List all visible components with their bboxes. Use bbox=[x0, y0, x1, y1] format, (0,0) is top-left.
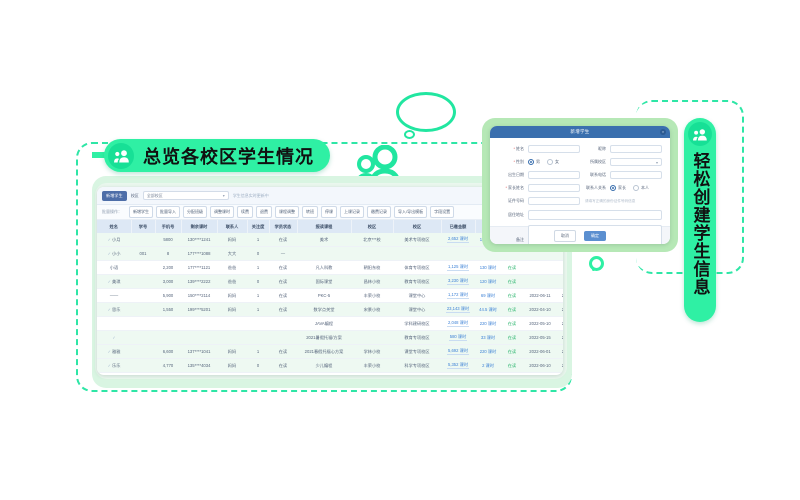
field-contact: 联系电话 bbox=[580, 171, 662, 179]
cell-no bbox=[131, 303, 155, 317]
campus-filter-select[interactable]: 全部校区 ▾ bbox=[143, 191, 229, 200]
cell-date: 2022-06-01 bbox=[523, 345, 557, 359]
campus-label: 所属校区 bbox=[580, 159, 606, 165]
cell-status: 在读 bbox=[501, 331, 523, 345]
cell-date: 2022-12-08 bbox=[523, 373, 557, 376]
cell-campus bbox=[351, 317, 393, 331]
contact-input[interactable] bbox=[610, 171, 662, 179]
cell-parent bbox=[217, 317, 247, 331]
cell-campus: 学林小校 bbox=[351, 345, 393, 359]
cell-paid: 3,230 课时 bbox=[441, 275, 475, 289]
cell-campus2: 科学专项校区 bbox=[393, 359, 441, 373]
cell-campus bbox=[351, 247, 393, 261]
status-badge: 在读 bbox=[508, 293, 516, 298]
cell-state bbox=[269, 331, 297, 345]
cell-hours: 135****4034 bbox=[181, 359, 217, 373]
idcard-label: 证件号码 bbox=[498, 198, 524, 204]
col-name[interactable]: 姓名 bbox=[97, 220, 131, 233]
birthday-label: 出生日期 bbox=[498, 172, 524, 178]
idcard-tip: 请填写正确的身份证件号码信息 bbox=[585, 199, 635, 204]
col-course[interactable]: 报读课程 bbox=[297, 220, 351, 233]
cell-paid: 5,692 课时 bbox=[441, 345, 475, 359]
cell-hours: 199****5201 bbox=[181, 303, 217, 317]
status-badge: 在读 bbox=[508, 349, 516, 354]
toolbar-button[interactable]: 课程调整 bbox=[275, 206, 299, 218]
paid-amount: 580 课时 bbox=[449, 334, 468, 341]
required-mark: * bbox=[505, 185, 507, 190]
gender-label: *性别 bbox=[498, 159, 524, 165]
table-row[interactable]: ✓ 美琪3,000139****2222爸爸0在读国际课堂昌林小校教育专项校区3… bbox=[97, 275, 563, 289]
cell-date: 2022-06-11 bbox=[523, 289, 557, 303]
cell-state: 在读 bbox=[269, 303, 297, 317]
row-checkbox[interactable]: ✓ bbox=[112, 335, 115, 340]
confirm-button[interactable]: 确定 bbox=[584, 231, 606, 241]
field-parent: *家长姓名 bbox=[498, 184, 580, 192]
cell-phone: 5,900 bbox=[155, 289, 181, 303]
col-no[interactable]: 学号 bbox=[131, 220, 155, 233]
form-row-idcard: 证件号码 请填写正确的身份证件号码信息 bbox=[498, 197, 662, 205]
paid-amount: 1,125 课时 bbox=[447, 264, 469, 271]
cell-campus: 宋景小校 bbox=[351, 303, 393, 317]
cell-disc: 2折 bbox=[557, 331, 563, 345]
table-row[interactable]: ✓ 乐乐4,770135****4034妈妈0在读少儿编程丰荣小校科学专项校区5… bbox=[97, 359, 563, 373]
toolbar-button[interactable]: 调整课时 bbox=[210, 206, 234, 218]
cell-status: 在读 bbox=[501, 261, 523, 275]
cell-parent: 妈妈 bbox=[217, 233, 247, 247]
row-checkbox[interactable]: ✓ bbox=[108, 349, 112, 354]
form-row-parent: *家长姓名 联系人关系 家长 本人 bbox=[498, 184, 662, 192]
cell-status: 在读 bbox=[501, 303, 523, 317]
field-campus: 所属校区 ▾ bbox=[580, 158, 662, 166]
cell-disc: 2折 bbox=[557, 345, 563, 359]
status-badge: 在读 bbox=[508, 265, 516, 270]
cell-focus: 1 bbox=[247, 261, 269, 275]
thought-bubble-dot-icon bbox=[404, 130, 415, 139]
cell-focus: 1 bbox=[247, 373, 269, 376]
cell-hours: 137****1041 bbox=[181, 345, 217, 359]
cell-due: 130 课时 bbox=[475, 261, 501, 275]
cell-campus: 朝阳东校 bbox=[351, 261, 393, 275]
cell-disc: 2折 bbox=[557, 359, 563, 373]
cell-paid: 580 课时 bbox=[441, 331, 475, 345]
cell-state: 在读 bbox=[269, 261, 297, 275]
chevron-down-icon: ▾ bbox=[656, 160, 658, 165]
cell-no bbox=[131, 345, 155, 359]
cell-phone: 3,000 bbox=[155, 275, 181, 289]
relation-radio-group: 家长 本人 bbox=[610, 185, 662, 191]
paid-amount: 2,048 课时 bbox=[447, 320, 469, 327]
row-checkbox[interactable]: ✓ bbox=[108, 307, 112, 312]
field-relation: 联系人关系 家长 本人 bbox=[580, 185, 662, 191]
cell-campus2: 美术专项校区 bbox=[393, 233, 441, 247]
cell-campus: 朝阳小校 bbox=[351, 373, 393, 376]
status-badge: 在读 bbox=[508, 321, 516, 326]
cell-course bbox=[297, 247, 351, 261]
cell-disc bbox=[557, 275, 563, 289]
cell-campus2: 体育专项校区 bbox=[393, 261, 441, 275]
toolbar-hint: 批量操作： bbox=[102, 209, 122, 215]
field-birthday: 出生日期 bbox=[498, 171, 580, 179]
cell-date bbox=[523, 275, 557, 289]
gender-option-label: 女 bbox=[555, 159, 559, 165]
toolbar-button[interactable]: 上课记录 bbox=[340, 206, 364, 218]
cell-no bbox=[131, 275, 155, 289]
cell-state: 在读 bbox=[269, 275, 297, 289]
cell-status: 在读 bbox=[501, 317, 523, 331]
cell-no: 001 bbox=[131, 247, 155, 261]
parent-label-text: 家长姓名 bbox=[508, 185, 524, 190]
cell-hours: 177****1121 bbox=[181, 261, 217, 275]
cell-state: 在读 bbox=[269, 233, 297, 247]
toolbar-button[interactable]: 新增学生 bbox=[129, 206, 153, 218]
cell-course: 凡人科教 bbox=[297, 261, 351, 275]
cell-due: 120 课时 bbox=[475, 275, 501, 289]
close-icon[interactable]: × bbox=[660, 129, 666, 135]
cell-date bbox=[523, 261, 557, 275]
campus-select[interactable]: ▾ bbox=[610, 158, 662, 166]
nickname-input[interactable] bbox=[610, 145, 662, 153]
radio-dot-icon bbox=[547, 159, 553, 165]
cell-campus2: 学科建研校区 bbox=[393, 317, 441, 331]
cancel-button[interactable]: 取消 bbox=[554, 230, 576, 242]
toolbar-button[interactable]: 停课 bbox=[321, 206, 337, 218]
cell-status: 在读 bbox=[501, 345, 523, 359]
radio-dot-icon bbox=[610, 185, 616, 191]
cell-parent: 大大 bbox=[217, 247, 247, 261]
cell-focus: 0 bbox=[247, 275, 269, 289]
col-campus[interactable]: 校区 bbox=[351, 220, 393, 233]
cell-course: 2021春假托福心方案 bbox=[297, 345, 351, 359]
cell-name: —— bbox=[97, 289, 131, 303]
address-label: 居住地址 bbox=[498, 212, 524, 218]
location-pin-icon bbox=[589, 256, 604, 271]
cell-disc bbox=[557, 261, 563, 275]
cell-hours: 130****1241 bbox=[181, 233, 217, 247]
col-parent[interactable]: 联系人 bbox=[217, 220, 247, 233]
cell-course: 国际课堂 bbox=[297, 275, 351, 289]
cell-due: 44.5 课时 bbox=[475, 303, 501, 317]
gender-radio-male[interactable]: 男 bbox=[528, 159, 540, 165]
remark-label: 备注 bbox=[498, 237, 524, 243]
address-input[interactable] bbox=[528, 210, 662, 220]
cell-state: 在读 bbox=[269, 359, 297, 373]
cell-hours: 177****1088 bbox=[181, 247, 217, 261]
cell-state: — bbox=[269, 247, 297, 261]
form-row-address: 居住地址 bbox=[498, 210, 662, 220]
toolbar-button[interactable]: 转班 bbox=[302, 206, 318, 218]
cell-due: 2 课时 bbox=[475, 359, 501, 373]
name-input[interactable] bbox=[528, 145, 580, 153]
cell-no bbox=[131, 233, 155, 247]
cell-no bbox=[131, 317, 155, 331]
cell-parent: 爸爸 bbox=[217, 261, 247, 275]
cell-campus2: 课堂中心 bbox=[393, 303, 441, 317]
col-hours[interactable]: 剩余课时 bbox=[181, 220, 217, 233]
field-idcard: 证件号码 bbox=[498, 197, 580, 205]
form-row-gender: *性别 男 女 所属校区 ▾ bbox=[498, 158, 662, 166]
cell-parent: 爸爸 bbox=[217, 275, 247, 289]
cell-course: 少儿编程 bbox=[297, 359, 351, 373]
cell-campus2: 教育专项校区 bbox=[393, 275, 441, 289]
table-row[interactable]: ✓ 2021暑假托福/方案教育专项校区580 课时33 课时在读2022-05-… bbox=[97, 331, 563, 345]
cell-course: 2021暑假托福/方案 bbox=[297, 331, 351, 345]
required-mark: * bbox=[513, 159, 515, 164]
cell-phone: 4,770 bbox=[155, 359, 181, 373]
row-checkbox[interactable]: ✓ bbox=[108, 363, 112, 368]
toolbar-button[interactable]: 续费 bbox=[237, 206, 253, 218]
cell-name: ✓ 雅雅 bbox=[97, 345, 131, 359]
campus-filter-label: 校区 bbox=[131, 193, 139, 199]
row-checkbox[interactable]: ✓ bbox=[108, 279, 112, 284]
thought-bubble-icon bbox=[396, 92, 456, 132]
chevron-down-icon: ▾ bbox=[223, 193, 225, 198]
cell-status: 在读 bbox=[501, 275, 523, 289]
left-callout-pill: 总览各校区学生情况 bbox=[104, 139, 330, 172]
due-amount: 220 课时 bbox=[480, 321, 497, 326]
cell-phone: 2,200 bbox=[155, 261, 181, 275]
cell-due: 220 课时 bbox=[475, 317, 501, 331]
paid-amount: 5,692 课时 bbox=[447, 348, 469, 355]
cell-hours: 139****2222 bbox=[181, 275, 217, 289]
parent-input[interactable] bbox=[528, 184, 580, 192]
status-badge: 在读 bbox=[508, 363, 516, 368]
cell-hours bbox=[181, 317, 217, 331]
row-checkbox[interactable]: ✓ bbox=[108, 237, 112, 242]
modal-title: 新增学生 bbox=[570, 129, 589, 135]
cell-campus2: 教育专项校区 bbox=[393, 331, 441, 345]
relation-option-label: 家长 bbox=[618, 185, 626, 191]
cell-focus: 1 bbox=[247, 233, 269, 247]
birthday-input[interactable] bbox=[528, 171, 580, 179]
paid-amount: 23,143 课时 bbox=[446, 306, 470, 313]
parent-label: *家长姓名 bbox=[498, 185, 524, 191]
cell-due: 220 课时 bbox=[475, 345, 501, 359]
cell-phone bbox=[155, 317, 181, 331]
cell-due: 33 课时 bbox=[475, 331, 501, 345]
status-badge: 在读 bbox=[508, 279, 516, 284]
cell-hours: 150****2114 bbox=[181, 289, 217, 303]
cell-parent bbox=[217, 331, 247, 345]
col-state[interactable]: 学员状态 bbox=[269, 220, 297, 233]
relation-radio-self[interactable]: 本人 bbox=[633, 185, 649, 191]
cell-date: 2022-04-10 bbox=[523, 303, 557, 317]
cell-campus: 丰荣小校 bbox=[351, 359, 393, 373]
cell-date: 2022-05-15 bbox=[523, 331, 557, 345]
due-amount: 2 课时 bbox=[482, 363, 494, 368]
cell-course: 美术 bbox=[297, 233, 351, 247]
cell-paid: 2,048 课时 bbox=[441, 317, 475, 331]
due-amount: 44.5 课时 bbox=[479, 307, 497, 312]
cell-paid: 23,143 课时 bbox=[441, 303, 475, 317]
people-group-icon bbox=[108, 143, 134, 169]
cell-status: 在读 bbox=[501, 373, 523, 376]
cell-state bbox=[269, 317, 297, 331]
cell-campus bbox=[351, 331, 393, 345]
radio-dot-icon bbox=[528, 159, 534, 165]
cell-status: 在读 bbox=[501, 359, 523, 373]
row-checkbox[interactable]: ✓ bbox=[108, 251, 112, 256]
campus-filter-value: 全部校区 bbox=[147, 193, 163, 199]
cell-course: JAVA编程 bbox=[297, 317, 351, 331]
gender-radio-group: 男 女 bbox=[528, 159, 580, 165]
new-student-modal: 新增学生 × *姓名 昵称 *性别 男 女 bbox=[490, 126, 670, 244]
people-group-icon bbox=[688, 122, 712, 146]
modal-body: *姓名 昵称 *性别 男 女 所属校区 bbox=[490, 138, 670, 226]
due-amount: 69 课时 bbox=[481, 293, 495, 298]
due-amount: 120 课时 bbox=[480, 279, 497, 284]
table-row[interactable]: 琪琪5,200130****2313妈妈1在读SCRATCH图形化编程朝阳小校课… bbox=[97, 373, 563, 376]
cell-name: ✓ bbox=[97, 331, 131, 345]
cell-paid bbox=[441, 247, 475, 261]
due-amount: 33 课时 bbox=[481, 335, 495, 340]
cell-phone: 5800 bbox=[155, 233, 181, 247]
cell-campus: 北京***校 bbox=[351, 233, 393, 247]
relation-radio-parent[interactable]: 家长 bbox=[610, 185, 626, 191]
paid-amount: 3,230 课时 bbox=[447, 278, 469, 285]
cell-no bbox=[131, 289, 155, 303]
nickname-label: 昵称 bbox=[580, 146, 606, 152]
cell-focus: 1 bbox=[247, 303, 269, 317]
cell-name: 小语 bbox=[97, 261, 131, 275]
cell-date: 2022-06-10 bbox=[523, 359, 557, 373]
cell-campus2: 课堂中心 bbox=[393, 289, 441, 303]
field-nickname: 昵称 bbox=[580, 145, 662, 153]
table-row[interactable]: 小语2,200177****1121爸爸1在读凡人科教朝阳东校体育专项校区1,1… bbox=[97, 261, 563, 275]
toolbar-button[interactable]: 字段设置 bbox=[430, 206, 454, 218]
form-row-birthday: 出生日期 联系电话 bbox=[498, 171, 662, 179]
cell-focus: 0 bbox=[247, 247, 269, 261]
relation-label: 联系人关系 bbox=[580, 185, 606, 191]
cell-campus2: 课堂专项校区 bbox=[393, 345, 441, 359]
cell-campus2: 课程数学校区 bbox=[393, 373, 441, 376]
cell-parent: 妈妈 bbox=[217, 289, 247, 303]
relation-option-label: 本人 bbox=[641, 185, 649, 191]
cell-name: ✓ 思乐 bbox=[97, 303, 131, 317]
paid-amount: 5,352 课时 bbox=[447, 362, 469, 369]
required-mark: * bbox=[513, 146, 515, 151]
toolbar-button[interactable]: 批量导入 bbox=[156, 206, 180, 218]
status-badge: 在读 bbox=[508, 307, 516, 312]
cell-paid: 2,652 课时 bbox=[441, 233, 475, 247]
cell-phone bbox=[155, 331, 181, 345]
right-callout-pill: 轻松创建学生信息 bbox=[684, 118, 716, 322]
idcard-input[interactable] bbox=[528, 197, 580, 205]
cell-phone: 1,550 bbox=[155, 303, 181, 317]
right-callout-label: 轻松创建学生信息 bbox=[688, 152, 713, 296]
cell-no bbox=[131, 359, 155, 373]
col-phone[interactable]: 手机号 bbox=[155, 220, 181, 233]
cell-paid: 5,352 课时 bbox=[441, 359, 475, 373]
cell-name: ✓ 美琪 bbox=[97, 275, 131, 289]
modal-title-bar: 新增学生 × bbox=[490, 126, 670, 138]
col-focus[interactable]: 关注度 bbox=[247, 220, 269, 233]
cell-focus: 1 bbox=[247, 345, 269, 359]
status-badge: 在读 bbox=[508, 335, 516, 340]
toolbar-button[interactable]: 缴费记录 bbox=[367, 206, 391, 218]
cell-hours bbox=[181, 331, 217, 345]
cell-state: 在读 bbox=[269, 289, 297, 303]
cell-name: ✓ 小月 bbox=[97, 233, 131, 247]
cell-due: 69 课时 bbox=[475, 289, 501, 303]
cell-name: 琪琪 bbox=[97, 373, 131, 376]
cell-parent: 妈妈 bbox=[217, 303, 247, 317]
col-paid[interactable]: 已缴金额 bbox=[441, 220, 475, 233]
table-body: ✓ 小月5800130****1241妈妈1在读美术北京***校美术专项校区2,… bbox=[97, 233, 563, 375]
cell-course: SCRATCH图形化编程 bbox=[297, 373, 351, 376]
cell-due: 54 课时 bbox=[475, 373, 501, 376]
gender-radio-female[interactable]: 女 bbox=[547, 159, 559, 165]
cell-date: 2022-05-10 bbox=[523, 317, 557, 331]
screenshot-root: 新增学生 校区 全部校区 ▾ 学生信息实时更新中 批量操作： 新增学生 批量导入… bbox=[0, 0, 800, 500]
cell-hours: 130****2313 bbox=[181, 373, 217, 376]
cell-paid: 4,710 课时 bbox=[441, 373, 475, 376]
cell-course: PKC-5 bbox=[297, 289, 351, 303]
cell-phone: 6,600 bbox=[155, 345, 181, 359]
cell-status: 在读 bbox=[501, 289, 523, 303]
cell-disc: 2折 bbox=[557, 317, 563, 331]
table-row[interactable]: ——5,900150****2114妈妈1在读PKC-5丰荣小校课堂中心1,17… bbox=[97, 289, 563, 303]
contact-label: 联系电话 bbox=[580, 172, 606, 178]
table-row[interactable]: ✓ 思乐1,550199****5201妈妈1在读数学点关堂宋景小校课堂中心23… bbox=[97, 303, 563, 317]
paid-amount: 1,172 课时 bbox=[447, 292, 469, 299]
col-campus2[interactable]: 校区 bbox=[393, 220, 441, 233]
form-row-name: *姓名 昵称 bbox=[498, 145, 662, 153]
field-name: *姓名 bbox=[498, 145, 580, 153]
cell-parent: 妈妈 bbox=[217, 345, 247, 359]
cell-phone: 5,200 bbox=[155, 373, 181, 376]
cell-state: 在读 bbox=[269, 345, 297, 359]
cell-course: 数学点关堂 bbox=[297, 303, 351, 317]
cell-state: 在读 bbox=[269, 373, 297, 376]
cell-phone: 8 bbox=[155, 247, 181, 261]
left-callout-label: 总览各校区学生情况 bbox=[143, 143, 314, 169]
gender-option-label: 男 bbox=[536, 159, 540, 165]
name-label-text: 姓名 bbox=[516, 146, 524, 151]
name-label: *姓名 bbox=[498, 146, 524, 152]
toolbar-button[interactable]: 导入/导出模板 bbox=[394, 206, 427, 218]
cell-no bbox=[131, 331, 155, 345]
due-amount: 220 课时 bbox=[480, 349, 497, 354]
filter-hint: 学生信息实时更新中 bbox=[233, 193, 269, 199]
new-student-tag-button[interactable]: 新增学生 bbox=[102, 191, 127, 201]
field-gender: *性别 男 女 bbox=[498, 159, 580, 165]
cell-disc: 2折 bbox=[557, 303, 563, 317]
due-amount: 130 课时 bbox=[480, 265, 497, 270]
table-row[interactable]: JAVA编程学科建研校区2,048 课时220 课时在读2022-05-102折 bbox=[97, 317, 563, 331]
toolbar-button[interactable]: 退费 bbox=[256, 206, 272, 218]
cell-parent: 妈妈 bbox=[217, 359, 247, 373]
cell-name: ✓ 乐乐 bbox=[97, 359, 131, 373]
cell-name bbox=[97, 317, 131, 331]
cell-focus bbox=[247, 331, 269, 345]
cell-paid: 1,172 课时 bbox=[441, 289, 475, 303]
radio-dot-icon bbox=[633, 185, 639, 191]
gender-label-text: 性别 bbox=[516, 159, 524, 164]
cell-campus: 昌林小校 bbox=[351, 275, 393, 289]
cell-focus: 0 bbox=[247, 359, 269, 373]
cell-focus bbox=[247, 317, 269, 331]
paid-amount: 2,652 课时 bbox=[447, 236, 469, 243]
cell-campus: 丰荣小校 bbox=[351, 289, 393, 303]
toolbar-button[interactable]: 分配班级 bbox=[183, 206, 207, 218]
cell-disc: 2折 bbox=[557, 289, 563, 303]
cell-parent: 妈妈 bbox=[217, 373, 247, 376]
cell-no bbox=[131, 261, 155, 275]
cell-campus2 bbox=[393, 247, 441, 261]
cell-focus: 1 bbox=[247, 289, 269, 303]
cell-name: ✓ 小小 bbox=[97, 247, 131, 261]
table-row[interactable]: ✓ 雅雅6,600137****1041妈妈1在读2021春假托福心方案学林小校… bbox=[97, 345, 563, 359]
